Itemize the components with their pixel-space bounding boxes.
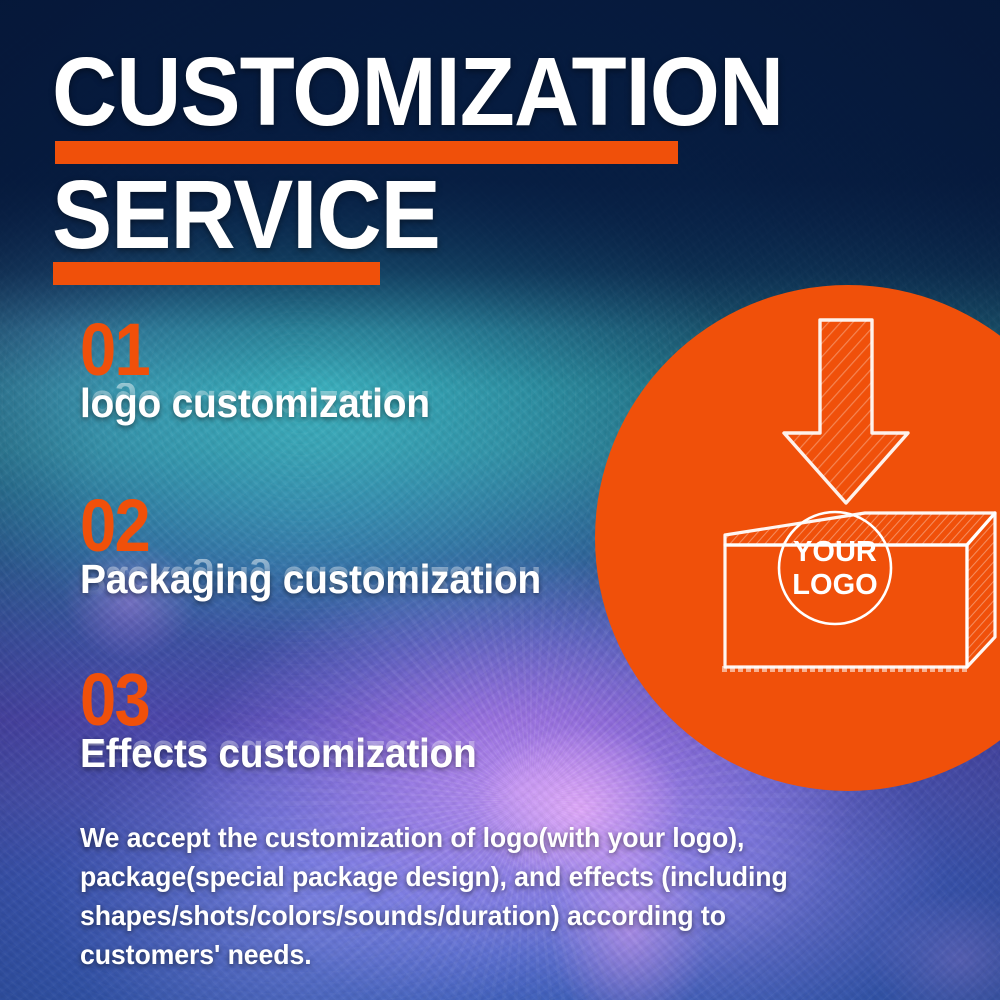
item-label-01: logo customization [80,382,430,425]
logo-text-line-1: YOUR [793,536,877,568]
item-label-wrap-03: Effects customization Effects customizat… [80,732,640,806]
list-item: 03 Effects customization Effects customi… [80,666,640,806]
item-label-02: Packaging customization [80,558,541,601]
logo-text-line-2: LOGO [792,569,877,601]
headline-text-service: SERVICE [52,167,703,262]
headline-line-1: CUSTOMIZATION [52,44,752,139]
service-list: 01 logo customization logo customization… [80,316,640,830]
item-label-wrap-01: logo customization logo customization [80,382,640,456]
download-arrow-icon [784,320,908,503]
item-number-01: 01 [80,316,573,384]
item-number-02: 02 [80,492,573,560]
item-label-wrap-02: Packaging customization Packaging custom… [80,558,640,632]
list-item: 01 logo customization logo customization [80,316,640,456]
headline-text-customization: CUSTOMIZATION [52,44,703,139]
page-title: CUSTOMIZATION SERVICE [52,44,752,262]
headline-underline-bar-2 [53,262,380,285]
headline-line-2: SERVICE [52,167,752,262]
item-number-03: 03 [80,666,573,734]
list-item: 02 Packaging customization Packaging cus… [80,492,640,632]
item-label-03: Effects customization [80,732,477,775]
package-graphic: YOUR LOGO [595,285,1000,791]
package-box-illustration: YOUR LOGO [595,285,1000,791]
promo-banner: CUSTOMIZATION SERVICE 01 logo customizat… [0,0,1000,1000]
description-paragraph: We accept the customization of logo(with… [80,818,846,974]
